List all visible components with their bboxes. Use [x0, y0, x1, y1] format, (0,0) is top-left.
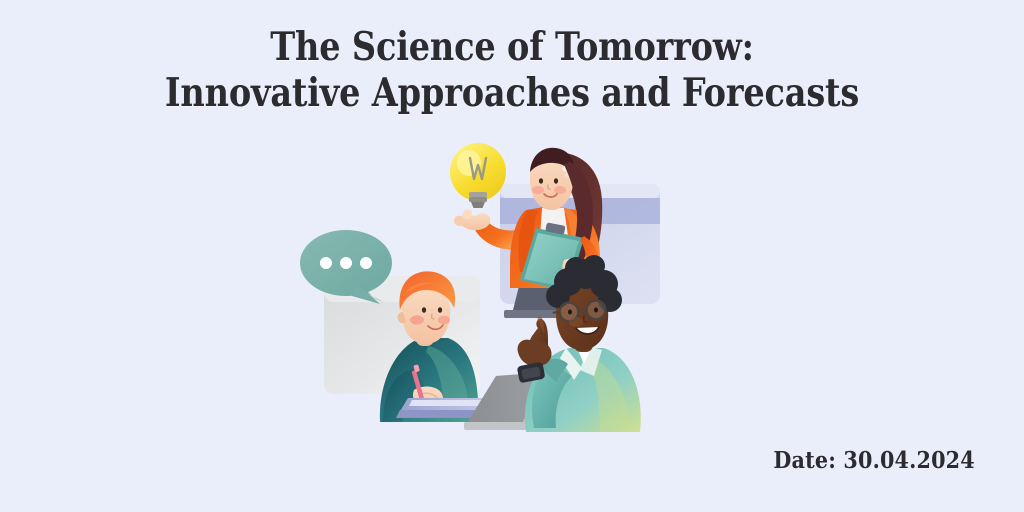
slide-canvas: The Science of Tomorrow: Innovative Appr…: [0, 0, 1024, 512]
page-title-line-2: Innovative Approaches and Forecasts: [72, 70, 953, 116]
open-hand: [454, 209, 491, 230]
pointing-hand: [518, 317, 552, 367]
page-title-line-1: The Science of Tomorrow:: [72, 24, 953, 70]
lightbulb-icon: [450, 143, 506, 208]
date-label: Date: 30.04.2024: [774, 447, 975, 475]
page-title: The Science of Tomorrow: Innovative Appr…: [0, 24, 1024, 116]
three-people-collaboration-illustration: [288, 132, 736, 432]
